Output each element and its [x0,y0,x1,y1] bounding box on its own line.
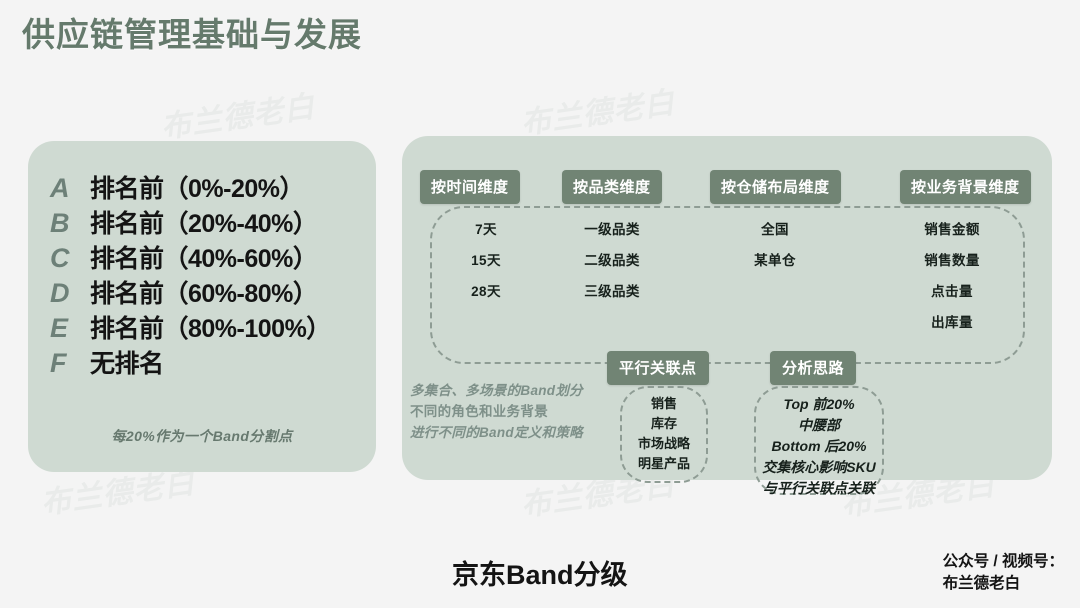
dimension-item: 15天 [438,245,534,276]
analysis-item: Top 前20% [756,394,882,415]
dimension-item: 三级品类 [557,276,667,307]
band-definition-note: 多集合、多场景的Band划分 不同的角色和业务背景 进行不同的Band定义和策略 [410,380,583,443]
dimension-header-business[interactable]: 按业务背景维度 [900,170,1031,204]
band-row: C 排名前（40%-60%） [46,239,366,274]
band-row: D 排名前（60%-80%） [46,274,366,309]
credit-line-1: 公众号 / 视频号： [943,551,1064,573]
analysis-approach-bubble: Top 前20% 中腰部 Bottom 后20% 交集核心影响SKU 与平行关联… [754,386,884,495]
dimension-column-warehouse: 全国 某单仓 [720,214,830,276]
band-row: F 无排名 [46,344,366,379]
watermark-top-right: 布兰德老白 [518,77,678,142]
band-grade-panel: A 排名前（0%-20%） B 排名前（20%-40%） C 排名前（40%-6… [28,141,376,472]
dimension-item: 28天 [438,276,534,307]
band-label: 排名前（0%-20%） [90,169,304,205]
band-letter: B [46,208,90,239]
band-label: 无排名 [90,344,164,380]
author-credit: 公众号 / 视频号： 布兰德老白 [943,551,1064,595]
band-letter: E [46,313,90,344]
band-split-note: 每20%作为一个Band分割点 [28,426,376,446]
dimension-item: 二级品类 [557,245,667,276]
dimension-item: 全国 [720,214,830,245]
band-row: A 排名前（0%-20%） [46,169,366,204]
credit-line-2: 布兰德老白 [943,573,1064,595]
dimension-column-category: 一级品类 二级品类 三级品类 [557,214,667,307]
dimension-item: 7天 [438,214,534,245]
band-label: 排名前（60%-80%） [90,274,317,310]
band-list: A 排名前（0%-20%） B 排名前（20%-40%） C 排名前（40%-6… [46,169,366,379]
analysis-item: 交集核心影响SKU [756,457,882,478]
band-letter: C [46,243,90,274]
page-title: 供应链管理基础与发展 [22,14,362,56]
dimension-item: 点击量 [897,276,1007,307]
dimension-item: 销售金额 [897,214,1007,245]
band-row: B 排名前（20%-40%） [46,204,366,239]
parallel-link-item: 市场战略 [622,434,706,454]
parallel-links-bubble: 销售 库存 市场战略 明星产品 [620,386,708,483]
band-label: 排名前（40%-60%） [90,239,317,275]
band-label: 排名前（20%-40%） [90,204,317,240]
analysis-item: 中腰部 [756,415,882,436]
dimension-panel: 按时间维度 按品类维度 按仓储布局维度 按业务背景维度 7天 15天 28天 一… [402,136,1052,480]
note-line: 不同的角色和业务背景 [410,401,583,422]
dimension-header-warehouse[interactable]: 按仓储布局维度 [710,170,841,204]
analysis-item: Bottom 后20% [756,436,882,457]
dimension-item: 出库量 [897,307,1007,338]
band-label: 排名前（80%-100%） [90,309,331,345]
band-letter: F [46,348,90,379]
dimension-header-category[interactable]: 按品类维度 [562,170,662,204]
band-letter: A [46,173,90,204]
analysis-item: 与平行关联点关联 [756,478,882,499]
watermark-top-left: 布兰德老白 [158,81,318,146]
note-line: 进行不同的Band定义和策略 [410,422,583,443]
dimension-item: 销售数量 [897,245,1007,276]
dimension-column-time: 7天 15天 28天 [438,214,534,307]
parallel-link-item: 库存 [622,414,706,434]
footer-title: 京东Band分级 [452,553,628,592]
dimension-header-time[interactable]: 按时间维度 [420,170,520,204]
dimension-column-business: 销售金额 销售数量 点击量 出库量 [897,214,1007,338]
parallel-link-item: 销售 [622,394,706,414]
sub-header-parallel-links[interactable]: 平行关联点 [607,351,709,385]
dimension-item: 一级品类 [557,214,667,245]
sub-header-analysis-approach[interactable]: 分析思路 [770,351,856,385]
note-line: 多集合、多场景的Band划分 [410,380,583,401]
band-row: E 排名前（80%-100%） [46,309,366,344]
band-letter: D [46,278,90,309]
parallel-link-item: 明星产品 [622,454,706,474]
dimension-item: 某单仓 [720,245,830,276]
